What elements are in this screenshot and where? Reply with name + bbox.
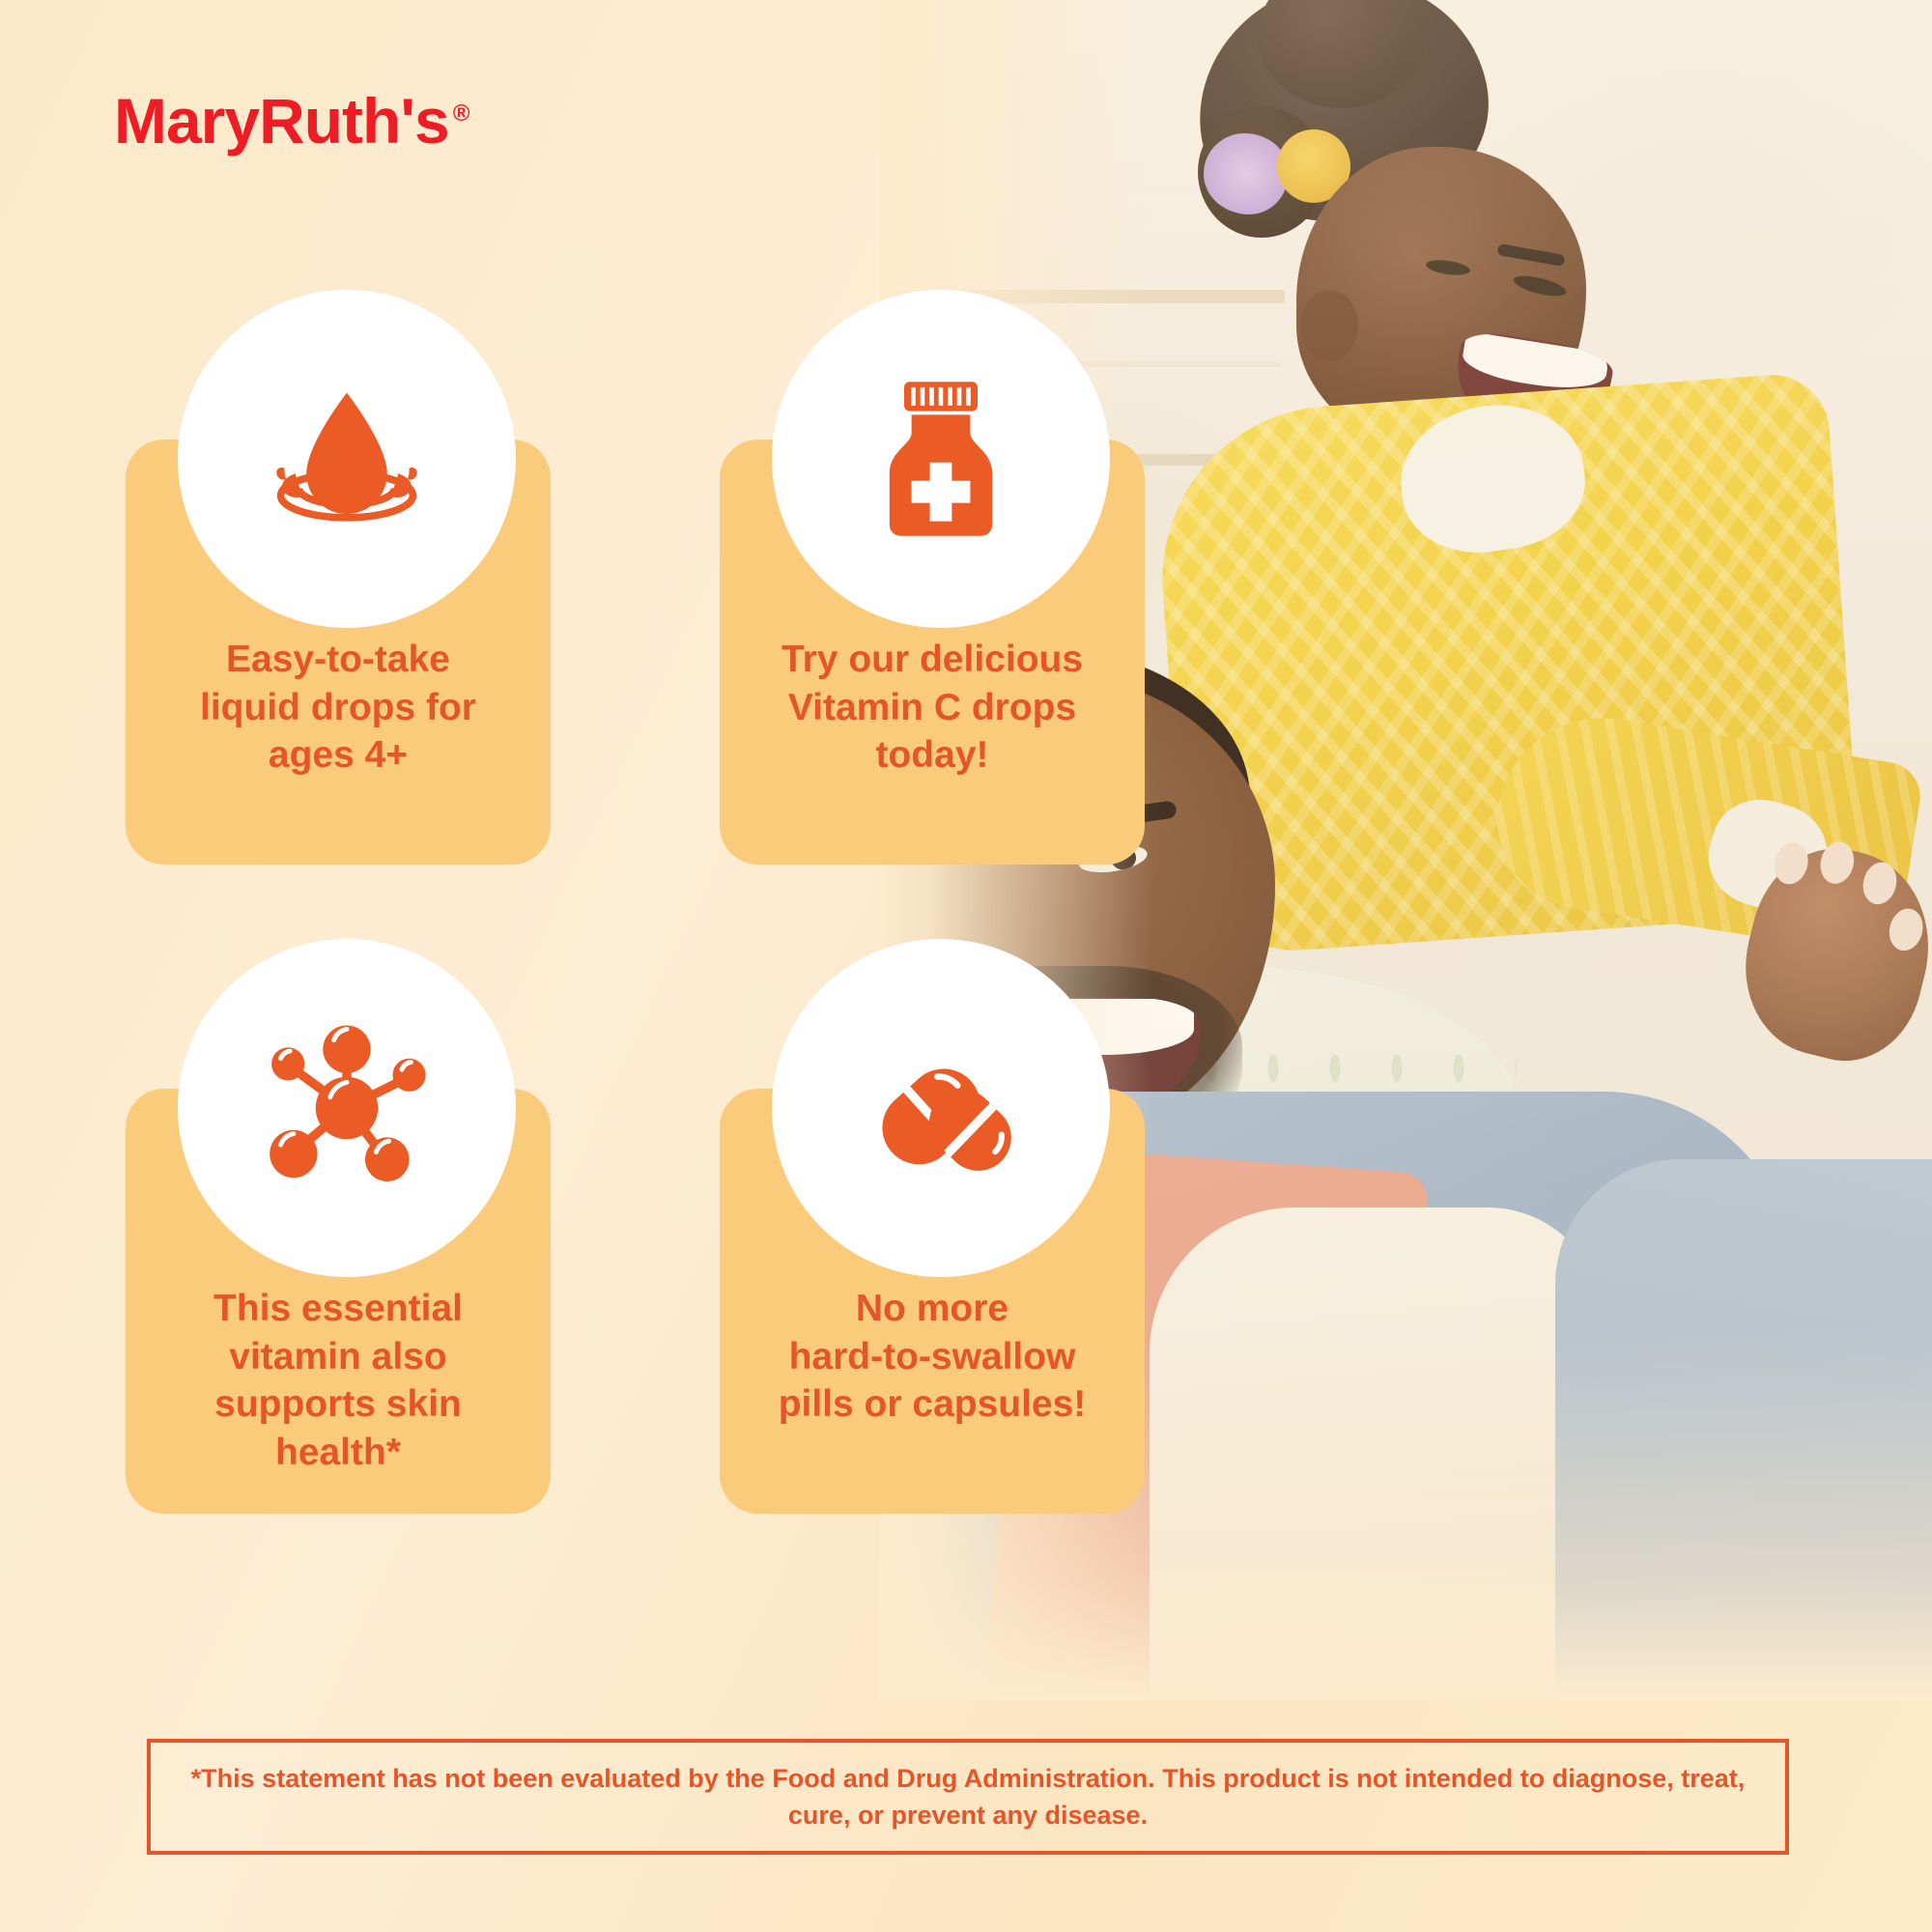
medicine-bottle-icon	[772, 290, 1110, 628]
molecule-icon	[178, 939, 516, 1277]
benefit-card-no-pills[interactable]: No more hard-to-swallow pills or capsule…	[720, 978, 1145, 1567]
benefit-card-vitamin-c-drops[interactable]: Try our delicious Vitamin C drops today!	[720, 328, 1145, 918]
registered-trademark-icon: ®	[453, 100, 469, 128]
fda-disclaimer-text: *This statement has not been evaluated b…	[176, 1760, 1760, 1834]
benefit-cards-grid: Easy-to-take liquid drops for ages 4+	[126, 328, 1150, 1567]
cards-row-bottom: This essential vitamin also supports ski…	[126, 978, 1150, 1567]
card-caption: No more hard-to-swallow pills or capsule…	[747, 1285, 1118, 1429]
capsules-icon	[772, 939, 1110, 1277]
logo-word-ruths: Ruth's	[259, 93, 449, 150]
cards-row-top: Easy-to-take liquid drops for ages 4+	[126, 328, 1150, 918]
benefit-card-skin-health[interactable]: This essential vitamin also supports ski…	[126, 978, 551, 1567]
brand-logo[interactable]: Mary Ruth's ®	[114, 93, 469, 150]
card-caption: This essential vitamin also supports ski…	[153, 1285, 524, 1476]
liquid-drop-icon	[178, 290, 516, 628]
card-caption: Try our delicious Vitamin C drops today!	[747, 636, 1118, 780]
benefit-card-easy-to-take[interactable]: Easy-to-take liquid drops for ages 4+	[126, 328, 551, 918]
logo-word-mary: Mary	[114, 93, 259, 150]
card-caption: Easy-to-take liquid drops for ages 4+	[153, 636, 524, 780]
fda-disclaimer-box: *This statement has not been evaluated b…	[147, 1739, 1789, 1855]
